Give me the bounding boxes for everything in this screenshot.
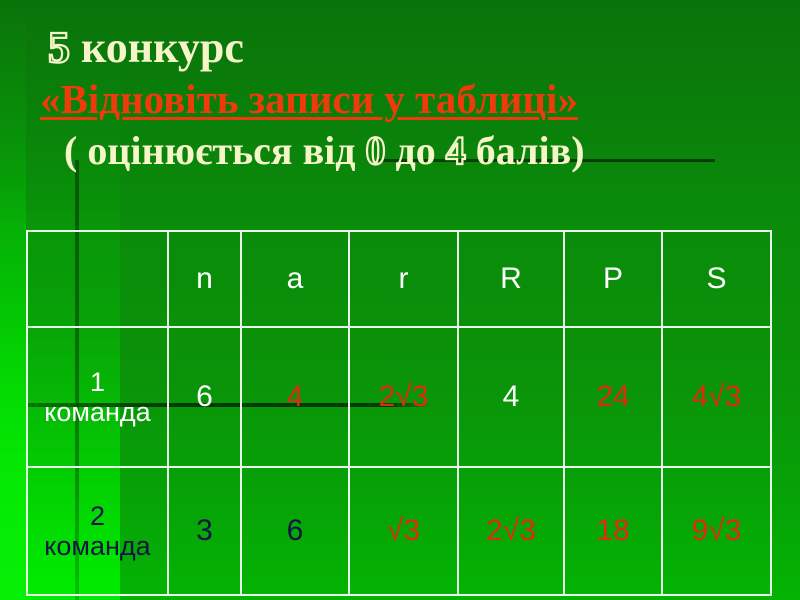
slide-canvas: 5 конкурс «Відновіть записи у таблиці» (… [0, 0, 800, 600]
header-cell-P: P [564, 231, 662, 327]
row-label-word-1: команда [44, 397, 150, 427]
cell-team2-P: 18 [564, 467, 662, 595]
header-cell-corner [27, 231, 168, 327]
row-label-word-2: команда [44, 531, 150, 561]
row-label-team-1: 1команда [27, 327, 168, 467]
row-label-number-2: 2 [28, 501, 167, 531]
title-line-instruction: «Відновіть записи у таблиці» [0, 79, 760, 120]
header-cell-a: a [241, 231, 349, 327]
header-cell-R: R [458, 231, 564, 327]
cell-team2-n: 3 [168, 467, 241, 595]
header-cell-r: r [349, 231, 458, 327]
row-label-team-2: 2команда [27, 467, 168, 595]
scoring-text-open: ( оцінюється від [64, 128, 366, 173]
title-line-contest: 5 конкурс [0, 26, 760, 70]
cell-team1-P: 24 [564, 327, 662, 467]
cell-team1-S: 4√3 [662, 327, 771, 467]
cell-team1-a: 4 [241, 327, 349, 467]
table-row: 2команда 3 6 √3 2√3 18 9√3 [27, 467, 771, 595]
table-header-row: n a r R P S [27, 231, 771, 327]
title-line-scoring: ( оцінюється від 0 до 4 балів) [0, 131, 760, 171]
cell-team1-n: 6 [168, 327, 241, 467]
scoring-text-mid: до [386, 128, 446, 173]
contest-number: 5 [48, 23, 70, 72]
title-block: 5 конкурс «Відновіть записи у таблиці» (… [0, 26, 760, 171]
header-cell-S: S [662, 231, 771, 327]
cell-team2-R: 2√3 [458, 467, 564, 595]
scores-table: n a r R P S 1команда 6 4 2√3 4 24 4√3 [26, 230, 772, 596]
scoring-max: 4 [446, 128, 466, 173]
cell-team1-R: 4 [458, 327, 564, 467]
table-row: 1команда 6 4 2√3 4 24 4√3 [27, 327, 771, 467]
cell-team1-r: 2√3 [349, 327, 458, 467]
scoring-text-end: балів) [466, 128, 585, 173]
cell-team2-r: √3 [349, 467, 458, 595]
contest-word: конкурс [70, 23, 244, 72]
header-cell-n: n [168, 231, 241, 327]
scoring-min: 0 [366, 128, 386, 173]
cell-team2-S: 9√3 [662, 467, 771, 595]
cell-team2-a: 6 [241, 467, 349, 595]
row-label-number-1: 1 [28, 367, 167, 397]
